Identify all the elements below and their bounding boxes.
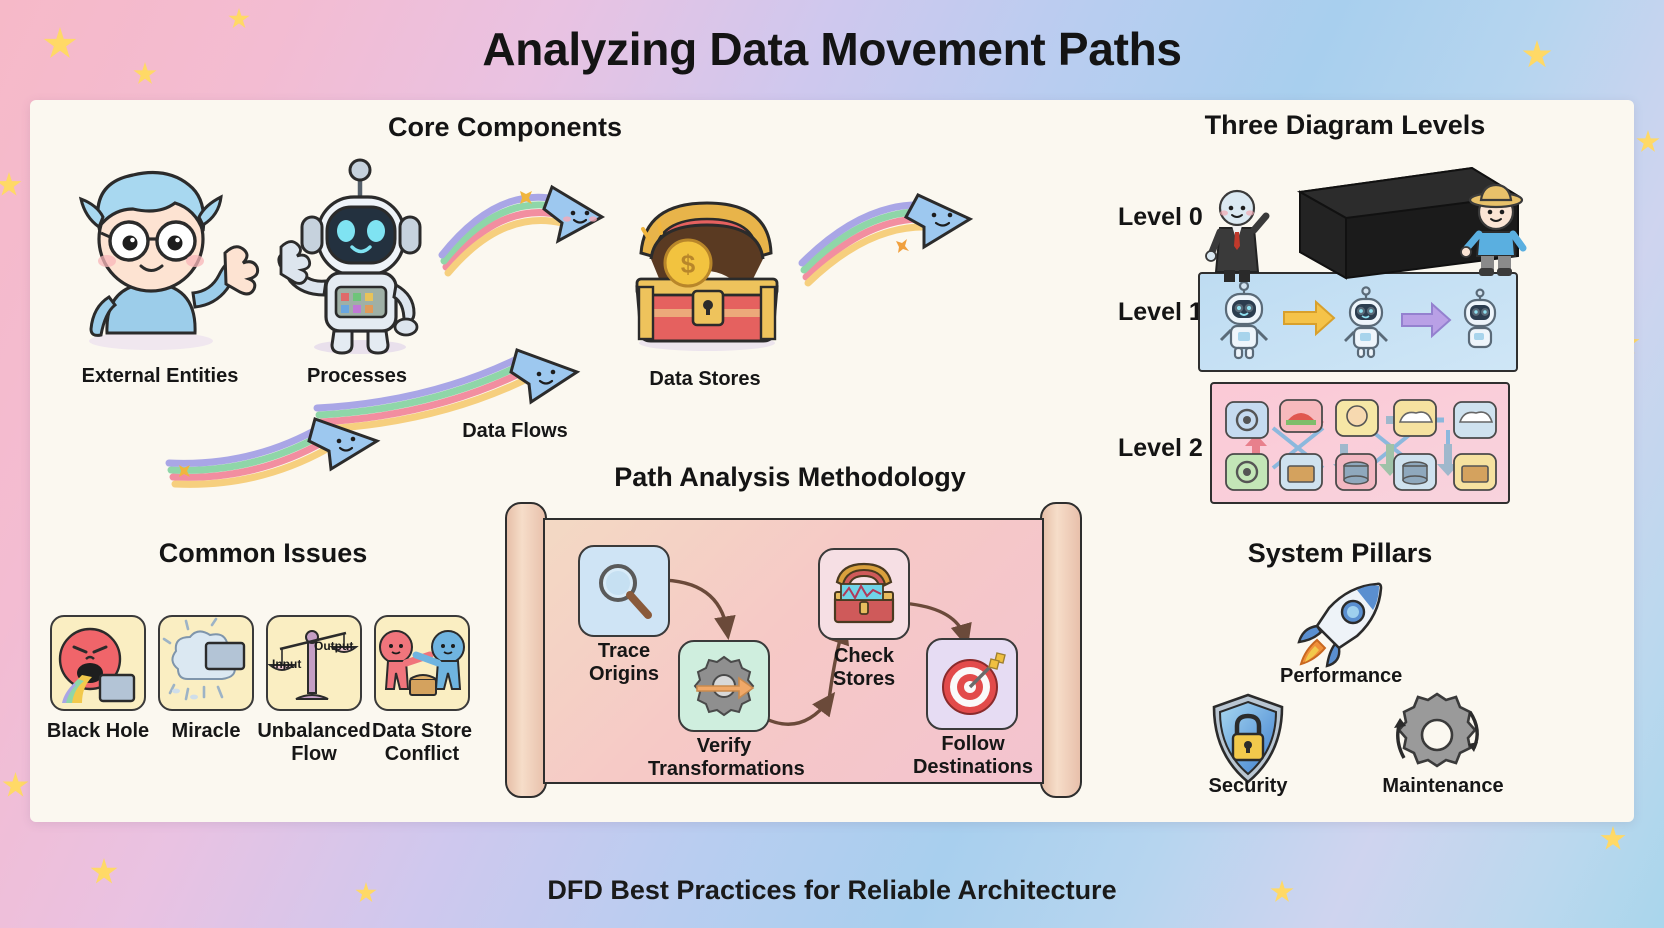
- core-item-label-external-entities: External Entities: [55, 365, 265, 388]
- scroll-right-roll: [1040, 502, 1082, 798]
- section-title-common-issues: Common Issues: [148, 538, 378, 569]
- issue-label-data-store-conflict: Data Store Conflict: [364, 720, 480, 766]
- step-badge-trace-origins: [578, 545, 670, 637]
- pillar-label-maintenance: Maintenance: [1378, 775, 1508, 798]
- rainbow-arrow-icon: [165, 415, 405, 485]
- level-label-1: Level 1: [1118, 298, 1203, 327]
- star-icon: [2, 772, 29, 799]
- page-caption: DFD Best Practices for Reliable Architec…: [0, 875, 1664, 906]
- section-title-core-components: Core Components: [280, 112, 730, 143]
- issue-tile-miracle: [158, 615, 254, 711]
- issue-tile-data-store-conflict: [374, 615, 470, 711]
- section-title-path-analysis: Path Analysis Methodology: [535, 462, 1045, 493]
- farmer-person-icon: [1465, 182, 1527, 278]
- section-title-three-diagram-levels: Three Diagram Levels: [1180, 110, 1510, 141]
- step-badge-check-stores: [818, 548, 910, 640]
- level-label-2: Level 2: [1118, 434, 1203, 463]
- scroll-left-roll: [505, 502, 547, 798]
- pillar-label-performance: Performance: [1280, 665, 1402, 688]
- rainbow-arrow-icon: [800, 195, 985, 285]
- section-title-system-pillars: System Pillars: [1225, 538, 1455, 569]
- star-icon: [1636, 130, 1660, 154]
- pillar-label-security: Security: [1190, 775, 1306, 798]
- page-title: Analyzing Data Movement Paths: [0, 22, 1664, 76]
- rainbow-arrow-icon: [440, 185, 620, 275]
- rocket-icon: [1295, 580, 1387, 666]
- step-label-trace-origins: Trace Origins: [572, 640, 676, 686]
- issue-tile-black-hole: [50, 615, 146, 711]
- shield-lock-icon: [1208, 692, 1288, 786]
- business-person-icon: [1206, 190, 1268, 282]
- step-label-check-stores: Check Stores: [812, 645, 916, 691]
- svg-text:$: $: [681, 249, 696, 279]
- core-item-label-data-flows: Data Flows: [420, 420, 610, 443]
- boy-waving-icon: [55, 165, 265, 350]
- step-badge-verify-transformations: [678, 640, 770, 732]
- scale-label-input: Input: [272, 657, 301, 671]
- issue-label-unbalanced-flow: Unbalanced Flow: [256, 720, 372, 766]
- scale-label-output: Output: [314, 639, 353, 653]
- star-icon: [1600, 826, 1626, 852]
- issue-label-miracle: Miracle: [148, 720, 264, 743]
- gear-cycle-icon: [1390, 688, 1484, 782]
- issue-label-black-hole: Black Hole: [40, 720, 156, 743]
- issue-tile-unbalanced-flow: Input Output: [266, 615, 362, 711]
- step-badge-follow-destinations: [926, 638, 1018, 730]
- core-item-label-data-stores: Data Stores: [615, 368, 795, 391]
- star-icon: [0, 172, 22, 198]
- step-label-follow-destinations: Follow Destinations: [910, 733, 1036, 779]
- robot-chain-icon: [1212, 280, 1506, 366]
- level-label-0: Level 0: [1118, 203, 1203, 232]
- treasure-chest-icon: $: [615, 195, 795, 350]
- detailed-network-icon: [1218, 388, 1502, 498]
- robot-icon: [272, 155, 442, 355]
- step-label-verify-transformations: Verify Transformations: [648, 735, 800, 781]
